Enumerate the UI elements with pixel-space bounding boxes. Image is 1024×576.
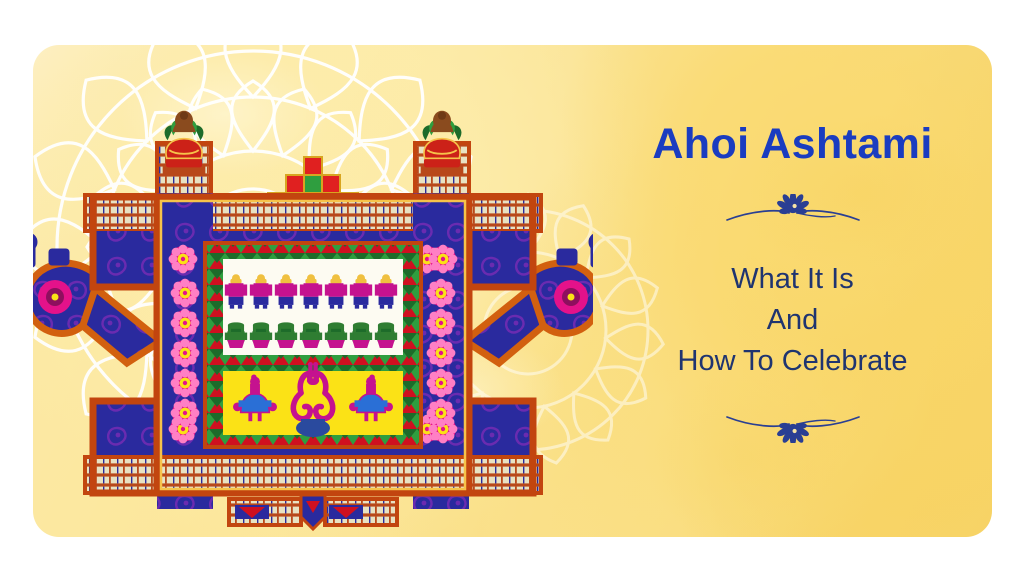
- inner-panels: [223, 259, 403, 437]
- rosette-column-left: [171, 279, 200, 428]
- text-column: Ahoi Ashtami: [593, 45, 992, 537]
- subtitle-line-2: And: [678, 300, 908, 341]
- subtitle-line-3: How To Celebrate: [678, 341, 908, 382]
- subtitle-line-1: What It Is: [678, 259, 908, 300]
- lotus-flourish-divider-bottom-icon: [713, 409, 873, 448]
- frame-footer-blocks: [227, 495, 399, 529]
- rosette-column-right: [427, 279, 456, 428]
- screenshot-root: Ahoi Ashtami: [0, 0, 1024, 576]
- page-title: Ahoi Ashtami: [652, 123, 932, 166]
- subtitle-block: What It Is And How To Celebrate: [678, 259, 908, 383]
- ahoi-ashtami-artwork: [33, 45, 593, 537]
- lotus-flourish-divider-top-icon: [713, 194, 873, 233]
- ahoi-ashtami-banner-card: Ahoi Ashtami: [33, 45, 992, 537]
